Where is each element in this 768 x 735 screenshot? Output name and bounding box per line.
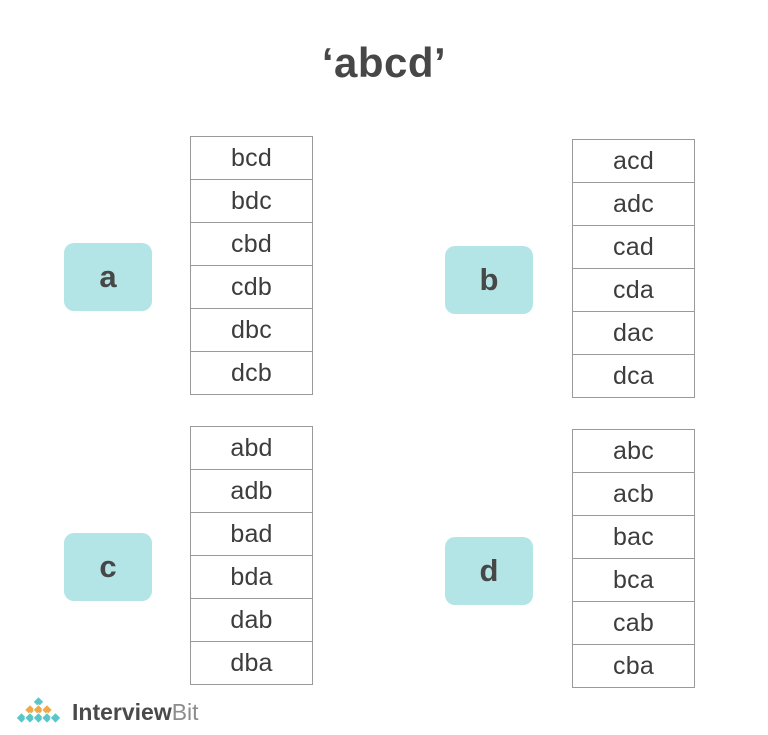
permutation-cell: dbc (191, 309, 312, 352)
group-badge-c: c (64, 533, 152, 601)
permutation-cell: adc (573, 183, 694, 226)
page-title: ‘abcd’ (0, 38, 768, 88)
permutation-cell: bcd (191, 137, 312, 180)
permutation-cell: bda (191, 556, 312, 599)
permutation-table-b: acd adc cad cda dac dca (572, 139, 695, 398)
permutation-cell: acb (573, 473, 694, 516)
permutation-cell: cdb (191, 266, 312, 309)
interviewbit-logo-text: InterviewBit (72, 701, 199, 724)
permutation-cell: bac (573, 516, 694, 559)
logo-name-light: Bit (172, 699, 199, 725)
group-badge-a: a (64, 243, 152, 311)
permutation-cell: cbd (191, 223, 312, 266)
interviewbit-logo-mark (12, 697, 64, 727)
permutation-cell: cba (573, 645, 694, 688)
permutation-cell: adb (191, 470, 312, 513)
diagram-canvas: ‘abcd’ a bcd bdc cbd cdb dbc dcb b acd a… (0, 0, 768, 735)
permutation-cell: dca (573, 355, 694, 398)
permutation-table-a: bcd bdc cbd cdb dbc dcb (190, 136, 313, 395)
permutation-cell: cab (573, 602, 694, 645)
permutation-cell: bdc (191, 180, 312, 223)
permutation-cell: bad (191, 513, 312, 556)
permutation-cell: abd (191, 427, 312, 470)
permutation-cell: abc (573, 430, 694, 473)
permutation-cell: bca (573, 559, 694, 602)
permutation-cell: dba (191, 642, 312, 685)
logo-name-bold: Interview (72, 699, 172, 725)
permutation-cell: dac (573, 312, 694, 355)
permutation-cell: cad (573, 226, 694, 269)
permutation-table-d: abc acb bac bca cab cba (572, 429, 695, 688)
group-badge-d: d (445, 537, 533, 605)
group-badge-b: b (445, 246, 533, 314)
permutation-cell: cda (573, 269, 694, 312)
interviewbit-logo: InterviewBit (12, 697, 199, 727)
permutation-cell: dab (191, 599, 312, 642)
permutation-table-c: abd adb bad bda dab dba (190, 426, 313, 685)
permutation-cell: dcb (191, 352, 312, 395)
permutation-cell: acd (573, 140, 694, 183)
